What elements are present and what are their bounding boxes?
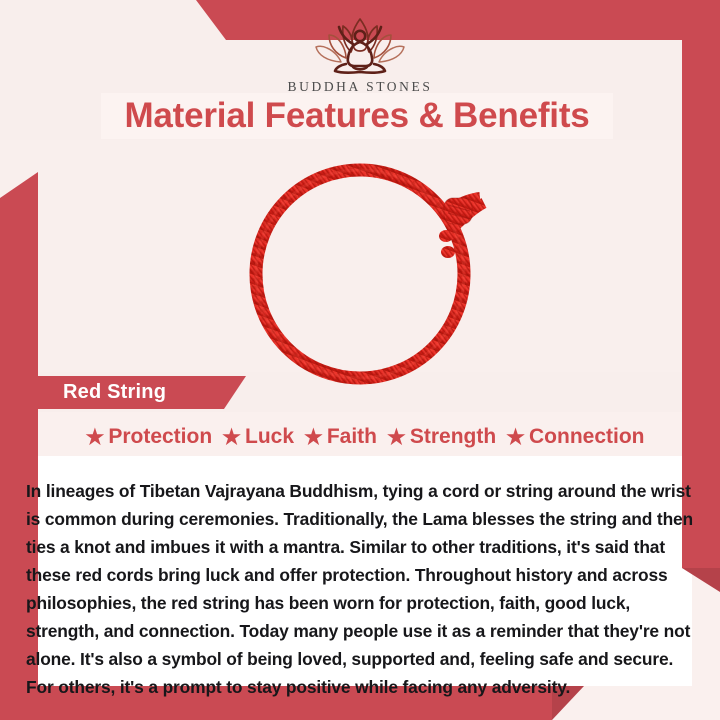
adjustable-sliding-knot	[444, 198, 472, 224]
description-text: In lineages of Tibetan Vajrayana Buddhis…	[26, 477, 694, 701]
feature-label: Strength	[410, 425, 496, 449]
star-icon: ★	[222, 427, 241, 448]
braided-red-string-bracelet-icon	[222, 158, 508, 390]
product-image	[222, 158, 508, 390]
page-title: Material Features & Benefits	[124, 96, 589, 136]
feature-label: Faith	[327, 425, 377, 449]
feature-item: ★ Strength	[387, 425, 496, 449]
brand-logo: BUDDHA STONES	[0, 14, 720, 95]
page-title-band: Material Features & Benefits	[101, 93, 613, 139]
star-icon: ★	[506, 427, 525, 448]
product-name-ribbon: Red String	[31, 376, 246, 409]
feature-list: ★ Protection ★ Luck ★ Faith ★ Strength ★…	[38, 418, 692, 456]
brand-name: BUDDHA STONES	[0, 79, 720, 95]
feature-label: Luck	[245, 425, 294, 449]
feature-item: ★ Connection	[506, 425, 644, 449]
feature-item: ★ Protection	[86, 425, 213, 449]
infographic-page: BUDDHA STONES Material Features & Benefi…	[0, 0, 720, 720]
feature-item: ★ Faith	[304, 425, 377, 449]
feature-item: ★ Luck	[222, 425, 294, 449]
lotus-meditation-figure-icon	[296, 14, 424, 76]
feature-label: Connection	[529, 425, 645, 449]
product-name: Red String	[31, 381, 166, 404]
star-icon: ★	[387, 427, 406, 448]
feature-label: Protection	[108, 425, 212, 449]
star-icon: ★	[304, 427, 323, 448]
star-icon: ★	[86, 427, 105, 448]
